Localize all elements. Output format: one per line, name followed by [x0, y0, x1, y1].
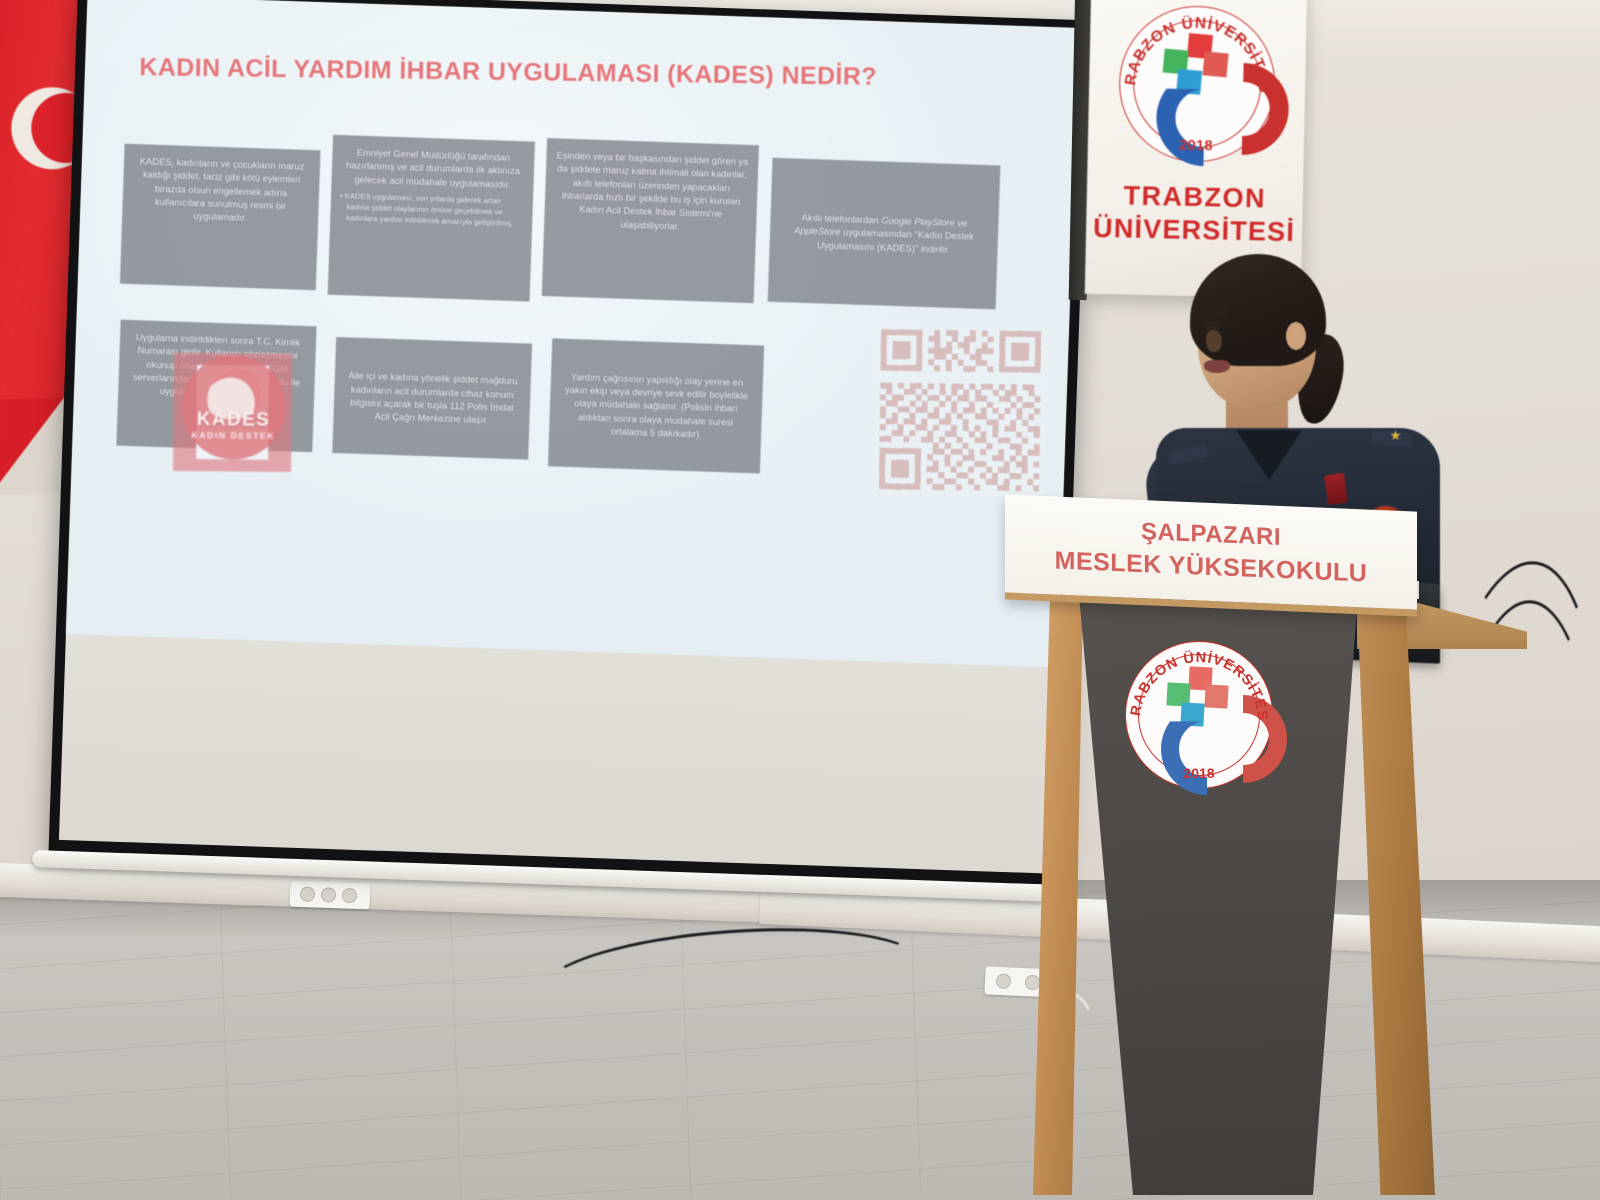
wall-socket-left[interactable] [290, 881, 371, 910]
text-box-4-body: Akıllı telefonlardan Google PlayStore ve… [778, 210, 989, 257]
text-box-6-text: Aile içi ve kadına yönelik şiddet mağdur… [342, 369, 522, 428]
svg-text:TRABZON ÜNİVERSİTESİ: TRABZON ÜNİVERSİTESİ [1125, 641, 1270, 722]
qr-code-icon [873, 323, 1047, 497]
slide-text-boxes: KADES, kadınların ve çocukların maruz ka… [120, 117, 1049, 149]
text-box-4-text-2: uygulamasından "Kadın Destek Uygulamasın… [817, 226, 974, 254]
kades-logo-title: KADES [165, 409, 301, 432]
projected-slide: KADIN ACİL YARDIM İHBAR UYGULAMASI (KADE… [66, 0, 1079, 668]
text-box-4-text-1: Akıllı telefonlardan [801, 212, 881, 226]
text-box-2-bullets: • KADES uygulaması, son yıllarda giderek… [339, 190, 524, 229]
kades-logo: KADES KADIN DESTEK [165, 347, 296, 478]
kades-logo-subtitle: KADIN DESTEK [165, 430, 301, 441]
text-box-2: Emniyet Genel Müdürlüğü tarafından hazır… [328, 135, 535, 302]
podium: 2018 TRABZON ÜNİVERSİTESİ ŞALPAZARI MESL… [1005, 495, 1455, 1200]
emblem-circular-text-banner: TRABZON ÜNİVERSİTESİ [1118, 4, 1277, 163]
svg-text:TRABZON ÜNİVERSİTESİ: TRABZON ÜNİVERSİTESİ [1118, 4, 1275, 94]
emblem-arc-text-svg: TRABZON ÜNİVERSİTESİ [1118, 4, 1277, 163]
text-box-1-text: KADES, kadınların ve çocukların maruz ka… [140, 155, 305, 223]
text-box-1: KADES, kadınların ve çocukların maruz ka… [120, 144, 321, 291]
text-box-3-text: Eşinden veya bir başkasından şiddet göre… [556, 149, 748, 231]
podium-front-panel: 2018 TRABZON ÜNİVERSİTESİ [1067, 595, 1367, 1195]
text-box-2-bullet-1: • KADES uygulaması, son yıllarda giderek… [339, 190, 524, 229]
trabzon-university-emblem-podium: 2018 TRABZON ÜNİVERSİTESİ [1125, 641, 1273, 789]
text-box-3: Eşinden veya bir başkasından şiddet göre… [542, 138, 759, 303]
presentation-room-photo: KADIN ACİL YARDIM İHBAR UYGULAMASI (KADE… [0, 0, 1600, 1200]
text-box-7: Yardım çağrısının yapıldığı olay yerine … [548, 338, 764, 473]
text-box-7-text: Yardım çağrısının yapıldığı olay yerine … [558, 369, 754, 442]
eye [1204, 321, 1221, 330]
text-box-6: Aile içi ve kadına yönelik şiddet mağdur… [332, 337, 532, 460]
podium-leg-left [1033, 595, 1083, 1195]
qr-code-svg [873, 323, 1047, 497]
podium-nameplate: ŞALPAZARI MESLEK YÜKSEKOKULU [1005, 494, 1417, 616]
slide-title: KADIN ACİL YARDIM İHBAR UYGULAMASI (KADE… [139, 53, 999, 93]
emblem-arc-text-svg-podium: TRABZON ÜNİVERSİTESİ [1125, 641, 1273, 789]
banner-title-line2: ÜNİVERSİTESİ [1086, 213, 1303, 249]
emblem-circular-text-podium: TRABZON ÜNİVERSİTESİ [1125, 641, 1273, 789]
nose [1206, 330, 1222, 352]
text-box-4: Akıllı telefonlardan Google PlayStore ve… [768, 158, 1001, 310]
projection-screen: KADIN ACİL YARDIM İHBAR UYGULAMASI (KADE… [49, 0, 1090, 886]
trabzon-university-emblem-banner: 2018 TRABZON ÜNİVERSİTESİ [1118, 4, 1277, 163]
mouth [1204, 360, 1230, 373]
banner-title-line1: TRABZON [1086, 180, 1303, 216]
ear [1286, 322, 1306, 350]
podium-leg-right [1357, 595, 1435, 1195]
text-box-2-text: Emniyet Genel Müdürlüğü tarafından hazır… [346, 147, 520, 190]
